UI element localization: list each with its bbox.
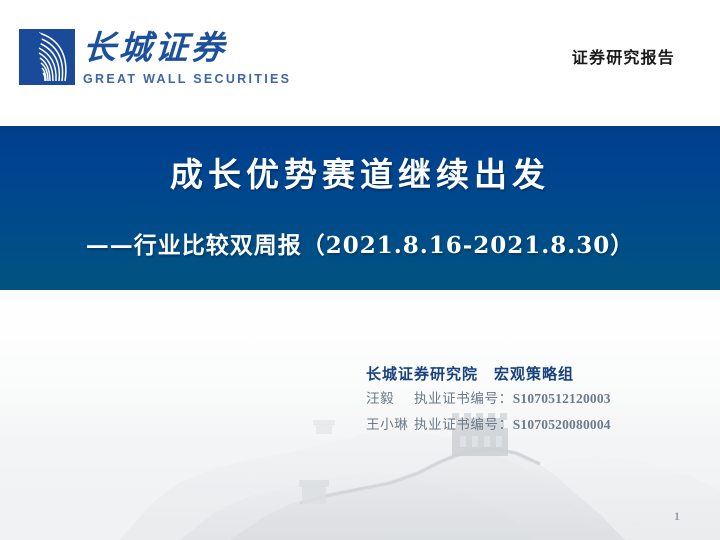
page-number: 1: [674, 509, 680, 524]
author-block: 长城证券研究院 宏观策略组 汪毅执业证书编号：S1070512120003 王小…: [366, 362, 696, 438]
research-team-label: 长城证券研究院 宏观策略组: [366, 362, 696, 386]
brand-name-cn: 长城证券: [82, 27, 344, 69]
title-banner: 成长优势赛道继续出发 ——行业比较双周报（2021.8.16-2021.8.30…: [0, 126, 720, 290]
author-cert-label: 执业证书编号：: [414, 391, 513, 407]
author-row: 汪毅执业证书编号：S1070512120003: [366, 386, 696, 412]
page-header: 长城证券 GREAT WALL SECURITIES 证券研究报告: [0, 0, 720, 120]
slide-canvas: 长城证券 GREAT WALL SECURITIES 证券研究报告 成长优势赛道…: [0, 0, 720, 540]
page-subtitle: ——行业比较双周报（2021.8.16-2021.8.30）: [0, 226, 720, 260]
page-title: 成长优势赛道继续出发: [0, 148, 720, 196]
great-wall-shell-logo-icon: [19, 29, 75, 85]
author-row: 王小琳执业证书编号：S1070520080004: [366, 412, 696, 438]
brand-lockup: 长城证券 GREAT WALL SECURITIES: [83, 27, 343, 87]
brand-name-en: GREAT WALL SECURITIES: [83, 71, 343, 87]
author-cert-code: S1070520080004: [513, 417, 611, 432]
author-name: 王小琳: [366, 412, 414, 438]
report-type-label: 证券研究报告: [572, 44, 675, 68]
author-name: 汪毅: [366, 386, 414, 412]
author-cert-code: S1070512120003: [513, 391, 611, 406]
author-cert-label: 执业证书编号：: [414, 417, 513, 433]
